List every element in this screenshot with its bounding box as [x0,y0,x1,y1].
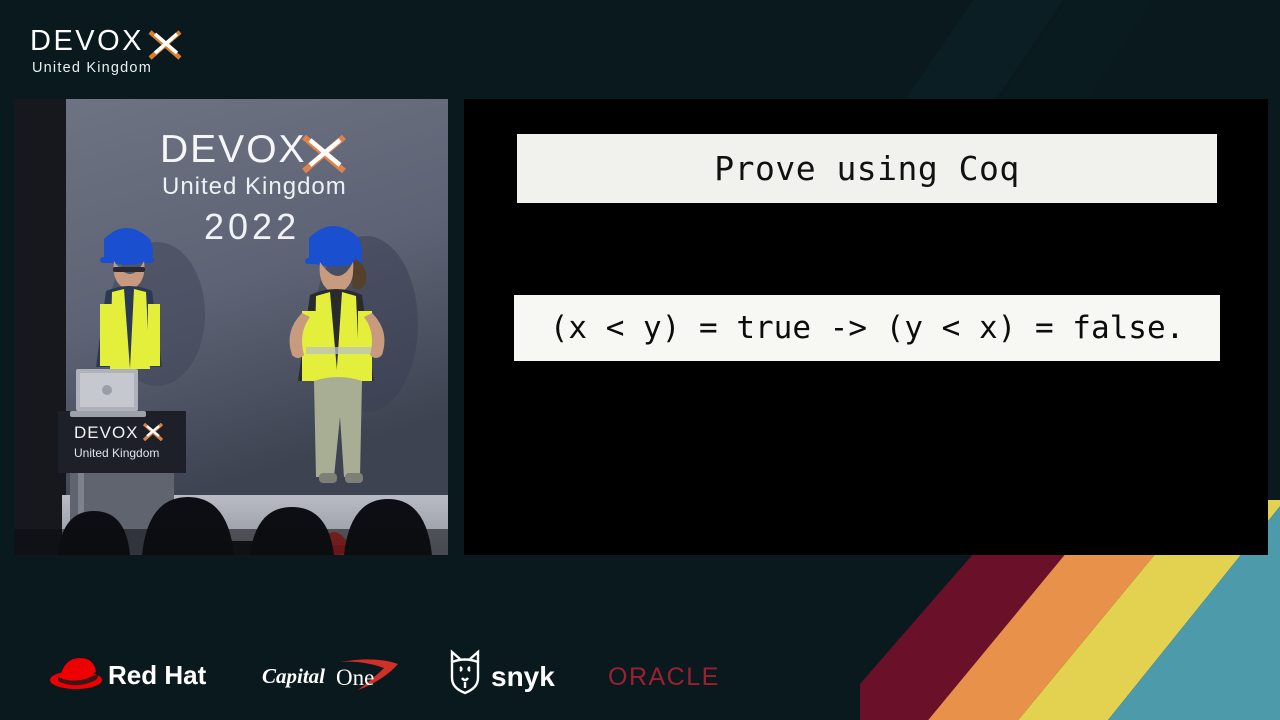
sponsor-label-one: One [336,665,374,690]
sponsor-snyk: snyk [445,648,563,696]
sponsor-capital-one: Capital One [262,656,402,694]
slide-formula: (x < y) = true -> (y < x) = false. [550,310,1185,346]
sponsor-label: Red Hat [108,660,206,690]
slide-title: Prove using Coq [714,149,1020,188]
speaker-at-podium [96,228,162,369]
logo-wordmark: DEVOX [30,25,144,57]
logo-x-accent [150,32,180,58]
slide-formula-box: (x < y) = true -> (y < x) = false. [514,295,1220,361]
svg-text:United Kingdom: United Kingdom [74,446,159,460]
svg-text:2022: 2022 [204,206,300,247]
svg-text:DEVOX: DEVOX [160,128,307,171]
svg-text:United Kingdom: United Kingdom [162,173,347,200]
devoxx-logo: DEVOX United Kingdom [30,22,260,76]
laptop [70,369,146,417]
logo-subtitle: United Kingdom [32,60,152,76]
sponsor-label: ORACLE [608,663,720,691]
slide-stage: DEVOX United Kingdom [0,0,1280,720]
sponsor-label: Capital [262,664,325,688]
sponsor-red-hat: Red Hat [48,650,206,694]
sponsor-oracle: ORACLE [608,662,768,692]
red-hat-icon [50,658,102,689]
snyk-wolf-icon [452,652,478,693]
sponsor-label: snyk [491,661,555,692]
video-panel[interactable]: DEVOX United Kingdom 2022 [14,99,448,555]
svg-text:DEVOX: DEVOX [74,423,139,442]
slide-title-box: Prove using Coq [517,134,1217,203]
presentation-slide[interactable]: Prove using Coq (x < y) = true -> (y < x… [464,99,1268,555]
